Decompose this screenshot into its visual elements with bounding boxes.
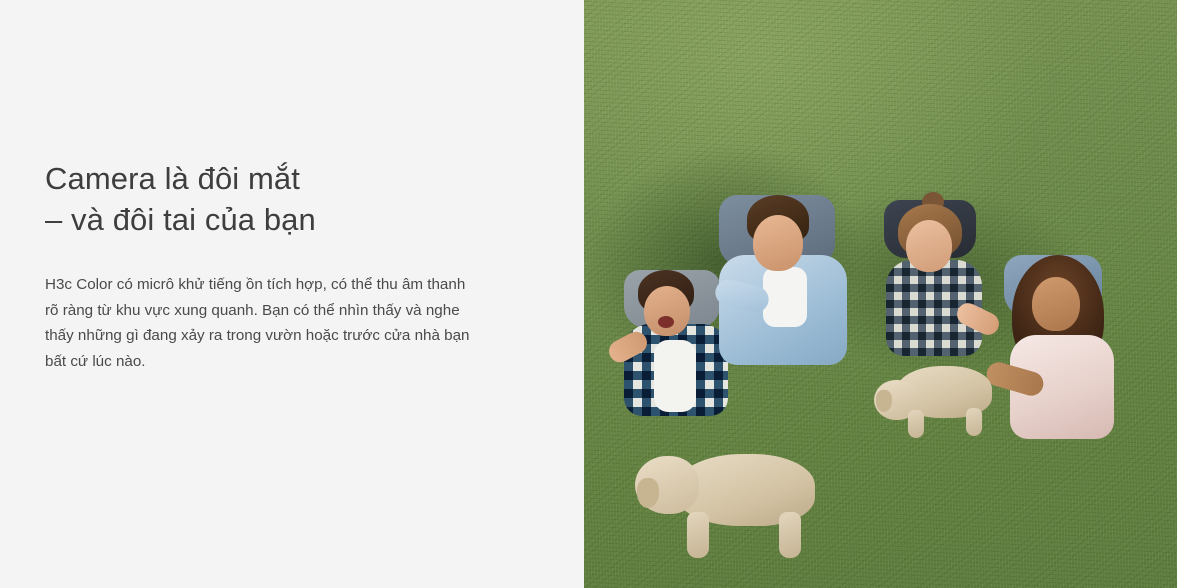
text-panel: Camera là đôi mắt – và đôi tai của bạn H… [0, 0, 584, 588]
child-girl-bun-hair [884, 200, 976, 258]
puppy-foreground [629, 440, 839, 560]
head [753, 215, 803, 271]
page-description: H3c Color có micrô khử tiếng ồn tích hợp… [45, 272, 475, 374]
child-boy-plaid-shirt [624, 270, 720, 328]
puppy-ear [876, 390, 892, 412]
promo-page: Camera là đôi mắt – và đôi tai của bạn H… [0, 0, 1177, 588]
head [906, 220, 952, 272]
head [1032, 277, 1080, 331]
puppy-with-girls [874, 358, 1004, 438]
puppy-leg [687, 512, 709, 558]
head [644, 286, 690, 336]
child-boy-blue-shirt [719, 195, 835, 267]
puppy-leg [966, 408, 982, 436]
puppy-ear [637, 478, 659, 508]
page-title: Camera là đôi mắt – và đôi tai của bạn [45, 158, 316, 240]
puppy-leg [779, 512, 801, 558]
child-girl-curly-hair [1004, 255, 1102, 317]
photo-panel: ezviz Mẹ ơi, chúng thật dễ thương! [584, 0, 1177, 588]
puppy-leg [908, 410, 924, 438]
undershirt [654, 340, 696, 412]
mouth [658, 316, 674, 328]
undershirt [763, 267, 807, 327]
